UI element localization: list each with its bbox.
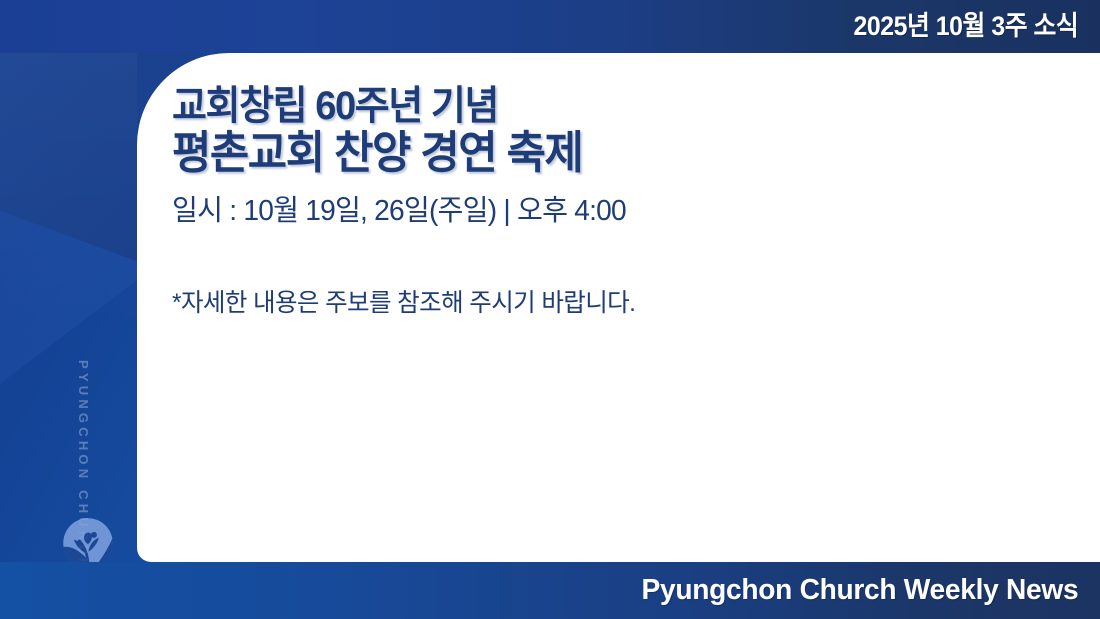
footnote-label: *자세한 내용은 주보를 참조해 주시기 바랍니다. (172, 287, 1042, 320)
content-panel: 교회창립 60주년 기념 평촌교회 찬양 경연 축제 일시 : 10월 19일,… (137, 53, 1100, 562)
issue-date-label: 2025년 10월 3주 소식 (853, 13, 1078, 40)
header-bar: 2025년 10월 3주 소식 (0, 0, 1100, 53)
title-line-2: 평촌교회 찬양 경연 축제 (172, 130, 1016, 177)
brand-label: Pyungchon Church Weekly News (641, 576, 1078, 605)
title-line-1: 교회창립 60주년 기념 (172, 86, 1016, 128)
announcement-title: 교회창립 60주년 기념 평촌교회 찬양 경연 축제 (172, 86, 1060, 176)
event-datetime-label: 일시 : 10월 19일, 26일(주일) | 오후 4:00 (172, 194, 1033, 229)
footer-bar: Pyungchon Church Weekly News (0, 562, 1100, 619)
weekly-news-slide: 2025년 10월 3주 소식 교회창립 60주년 기념 평촌교회 찬양 경연 … (0, 0, 1100, 619)
